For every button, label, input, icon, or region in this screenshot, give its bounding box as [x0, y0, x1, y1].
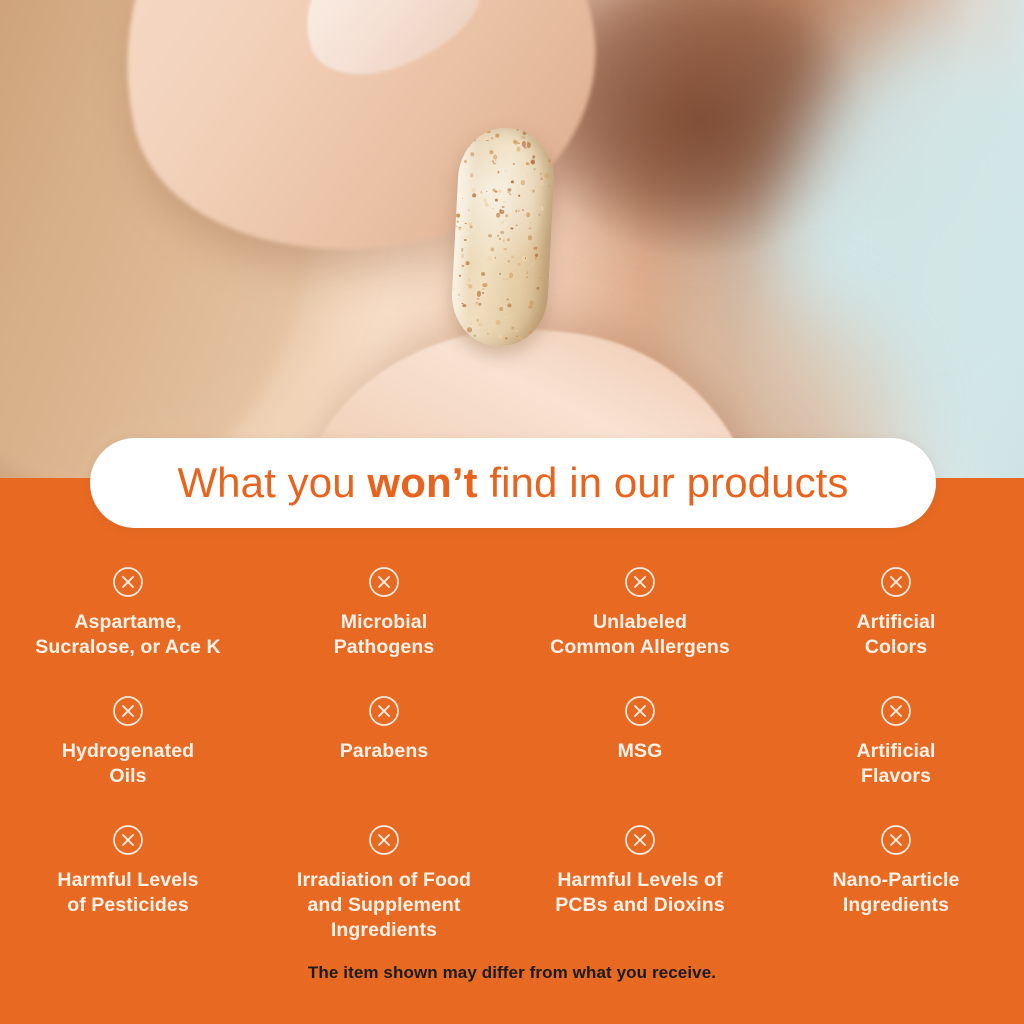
tablet-speckle	[526, 271, 528, 274]
product-infographic: What you won’t find in our products Aspa…	[0, 0, 1024, 1024]
tablet-speckle	[540, 320, 544, 324]
circle-x-icon	[880, 824, 912, 856]
tablet-speckle	[526, 173, 529, 176]
tablet-speckle	[501, 221, 504, 224]
tablet-speckle	[529, 135, 530, 136]
excluded-item-label: Harmful Levels of PCBs and Dioxins	[555, 868, 725, 918]
tablet-speckle	[468, 278, 470, 281]
tablet-speckle	[503, 239, 505, 242]
tablet-speckle	[474, 335, 476, 337]
excluded-item: Artificial Colors	[768, 556, 1024, 685]
tablet-speckle	[534, 169, 535, 170]
excluded-ingredients-grid: Aspartame, Sucralose, or Ace KMicrobial …	[0, 556, 1024, 943]
tablet-speckle	[469, 323, 472, 326]
excluded-item: Microbial Pathogens	[256, 556, 512, 685]
excluded-item-label: Hydrogenated Oils	[62, 739, 194, 789]
tablet-speckle	[506, 214, 508, 217]
tablet-speckle	[513, 139, 516, 143]
tablet-speckle	[474, 303, 479, 307]
tablet-speckle	[456, 214, 460, 218]
tablet-speckle	[505, 337, 507, 339]
tablet-speckle	[498, 189, 501, 193]
tablet-speckle	[540, 277, 542, 279]
tablet-speckle	[478, 303, 481, 306]
tablet-speckle	[478, 321, 482, 326]
tablet-speckle	[480, 191, 482, 194]
tablet-speckle	[496, 213, 500, 218]
tablet-speckle	[532, 156, 535, 159]
tablet-speckle	[483, 283, 487, 288]
circle-x-icon	[368, 824, 400, 856]
tablet-speckle	[525, 257, 526, 259]
tablet-speckle	[458, 228, 461, 231]
tablet-speckle	[495, 134, 500, 138]
tablet-speckle	[516, 224, 518, 225]
excluded-item-label: Microbial Pathogens	[334, 610, 435, 660]
tablet-speckle	[487, 256, 492, 261]
excluded-item: Irradiation of Food and Supplement Ingre…	[256, 814, 512, 943]
tablet-speckle	[540, 178, 543, 180]
tablet-speckle	[503, 201, 506, 204]
title-prefix: What you	[177, 459, 367, 506]
excluded-item-label: Nano-Particle Ingredients	[832, 868, 959, 918]
tablet-speckle	[477, 291, 481, 296]
excluded-item: Harmful Levels of Pesticides	[0, 814, 256, 943]
tablet-speckle	[536, 287, 540, 291]
excluded-item: MSG	[512, 685, 768, 814]
tablet-speckle	[540, 206, 544, 211]
tablet-speckle	[467, 128, 470, 131]
tablet-speckle	[529, 301, 533, 306]
tablet-speckle	[511, 181, 514, 183]
tablet-speckle	[521, 135, 525, 139]
tablet-speckle	[459, 275, 461, 277]
circle-x-icon	[624, 566, 656, 598]
tablet-speckle	[511, 327, 514, 330]
tablet-speckle	[495, 159, 496, 161]
tablet-speckle	[513, 163, 515, 164]
tablet-speckle	[507, 190, 510, 192]
tablet-speckle	[469, 144, 471, 147]
tablet-speckle	[472, 128, 476, 132]
page-title: What you won’t find in our products	[177, 459, 848, 507]
tablet-speckle	[482, 288, 484, 290]
circle-x-icon	[112, 824, 144, 856]
tablet-speckle	[472, 187, 476, 193]
tablet-speckle	[473, 267, 476, 269]
tablet-speckle	[538, 214, 541, 216]
tablet-speckle	[493, 154, 497, 159]
tablet-speckle	[503, 248, 507, 251]
tablet-speckle	[501, 206, 504, 209]
tablet-speckle	[518, 142, 520, 144]
tablet-speckle	[527, 142, 532, 148]
excluded-item-label: Harmful Levels of Pesticides	[57, 868, 198, 918]
circle-x-icon	[624, 695, 656, 727]
tablet-speckle	[486, 191, 487, 192]
tablet-speckle	[491, 138, 493, 140]
tablet-speckle	[486, 140, 489, 142]
tablet-speckle	[494, 190, 497, 193]
tablet-speckle	[506, 278, 508, 280]
tablet-speckle	[511, 227, 514, 229]
product-photo	[0, 0, 1024, 479]
tablet-speckle	[540, 173, 541, 175]
tablet-speckle	[467, 327, 471, 333]
tablet-speckle	[540, 181, 544, 186]
excluded-item-label: Artificial Flavors	[856, 739, 935, 789]
title-emphasis: won’t	[367, 459, 477, 506]
tablet-speckle	[455, 225, 457, 226]
excluded-item-label: Artificial Colors	[856, 610, 935, 660]
tablet-speckle	[484, 202, 488, 207]
excluded-item: Harmful Levels of PCBs and Dioxins	[512, 814, 768, 943]
circle-x-icon	[112, 566, 144, 598]
tablet-speckle	[499, 272, 501, 274]
tablet-speckle	[541, 311, 543, 312]
tablet-speckle	[522, 209, 524, 211]
circle-x-icon	[624, 824, 656, 856]
tablet-speckle	[455, 334, 459, 338]
tablet-speckle	[503, 278, 504, 280]
tablet-speckle	[535, 256, 538, 259]
tablet-speckle	[535, 254, 537, 257]
tablet-speckle	[517, 263, 520, 266]
tablet-speckle	[481, 272, 485, 276]
tablet-speckle	[532, 325, 535, 328]
circle-x-icon	[112, 695, 144, 727]
tablet-speckle	[501, 230, 505, 234]
excluded-item: Parabens	[256, 685, 512, 814]
tablet-speckle	[529, 222, 530, 223]
tablet-speckle	[452, 288, 455, 290]
disclaimer-text: The item shown may differ from what you …	[0, 963, 1024, 983]
tablet-speckle	[482, 137, 486, 141]
tablet-speckle	[528, 306, 533, 309]
tablet-speckle	[468, 284, 473, 289]
tablet-speckle	[510, 193, 512, 195]
tablet-speckle	[496, 319, 501, 325]
tablet-speckle	[495, 199, 498, 202]
tablet-speckle	[525, 276, 527, 278]
supplement-tablet	[449, 126, 556, 349]
tablet-speckle	[499, 334, 502, 337]
tablet-speckle	[544, 173, 549, 178]
excluded-item-label: Irradiation of Food and Supplement Ingre…	[297, 868, 471, 943]
tablet-speckle	[461, 236, 463, 238]
tablet-speckle	[477, 297, 479, 299]
tablet-speckle	[516, 129, 518, 131]
tablet-speckle	[497, 235, 499, 237]
tablet-speckle	[508, 260, 510, 262]
tablet-speckle	[511, 151, 512, 152]
tablet-speckle	[488, 234, 492, 238]
tablet-speckle	[515, 330, 518, 332]
excluded-item: Hydrogenated Oils	[0, 685, 256, 814]
tablet-speckle	[466, 147, 468, 149]
tablet-speckle	[464, 239, 466, 241]
tablet-speckle	[490, 247, 494, 251]
tablet-speckle	[516, 336, 518, 337]
tablet-speckle	[459, 161, 461, 163]
tablet-speckle	[509, 273, 513, 279]
tablet-speckle	[516, 146, 520, 151]
tablet-speckle	[493, 163, 495, 165]
tablet-speckle	[507, 298, 509, 301]
tablet-speckle	[495, 257, 496, 258]
tablet-speckle	[502, 306, 506, 311]
tablet-speckle	[487, 130, 490, 133]
tablet-speckle	[528, 236, 533, 241]
circle-x-icon	[368, 566, 400, 598]
title-banner: What you won’t find in our products	[90, 438, 936, 528]
tablet-speckle	[482, 198, 487, 202]
excluded-item-label: Unlabeled Common Allergens	[550, 610, 730, 660]
tablet-speckle	[482, 292, 484, 294]
tablet-speckle	[527, 212, 531, 217]
tablet-speckle	[487, 333, 489, 335]
tablet-speckle	[492, 207, 494, 209]
tablet-speckle	[472, 193, 477, 197]
tablet-speckle	[522, 131, 526, 135]
tablet-speckle	[518, 210, 519, 211]
tablet-speckle	[521, 141, 526, 146]
tablet-speckle	[548, 185, 551, 188]
excluded-item: Nano-Particle Ingredients	[768, 814, 1024, 943]
excluded-item: Artificial Flavors	[768, 685, 1024, 814]
title-suffix: find in our products	[478, 459, 849, 506]
tablet-speckle	[471, 153, 475, 157]
tablet-speckle	[520, 293, 521, 294]
tablet-speckle	[497, 171, 499, 174]
circle-x-icon	[880, 695, 912, 727]
tablet-speckle	[462, 304, 466, 307]
tablet-speckle	[511, 255, 514, 258]
tablet-speckle	[533, 246, 537, 250]
tablet-speckle	[506, 170, 507, 172]
excluded-item: Aspartame, Sucralose, or Ace K	[0, 556, 256, 685]
tablet-speckle	[531, 160, 535, 165]
excluded-item-label: Parabens	[340, 739, 429, 764]
tablet-speckle	[538, 230, 541, 233]
tablet-speckle	[490, 150, 494, 154]
tablet-speckle	[529, 227, 532, 230]
tablet-speckle	[521, 180, 525, 185]
tablet-speckle	[504, 316, 506, 318]
excluded-item-label: Aspartame, Sucralose, or Ace K	[35, 610, 220, 660]
tablet-speckle	[523, 146, 526, 148]
tablet-speckle	[518, 195, 520, 197]
tablet-speckle	[499, 307, 503, 312]
tablet-speckle	[498, 237, 501, 239]
circle-x-icon	[368, 695, 400, 727]
tablet-speckle	[519, 336, 523, 340]
tablet-speckle	[507, 304, 511, 308]
excluded-item-label: MSG	[618, 739, 663, 764]
circle-x-icon	[880, 566, 912, 598]
tablet-speckle	[512, 243, 515, 247]
tablet-speckle	[507, 238, 510, 240]
tablet-speckle	[532, 190, 535, 192]
tablet-speckle	[530, 209, 534, 212]
excluded-item: Unlabeled Common Allergens	[512, 556, 768, 685]
